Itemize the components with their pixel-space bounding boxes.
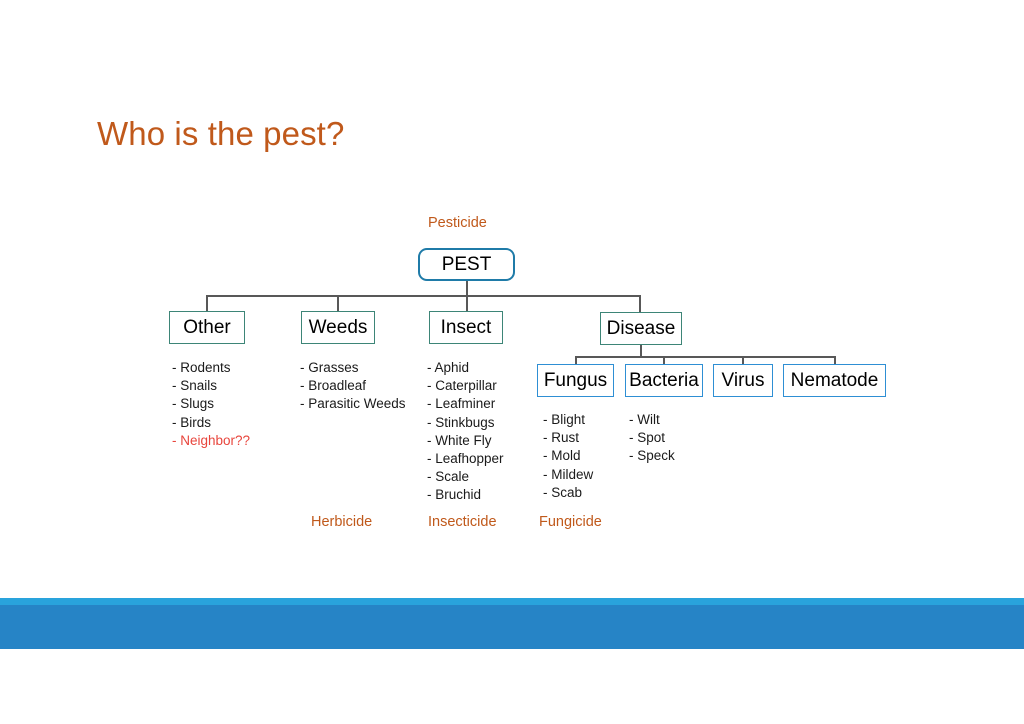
list-other: - Rodents - Snails - Slugs - Birds - Nei… (172, 359, 250, 450)
list-item: - Scale (427, 468, 504, 486)
caption-herbicide: Herbicide (311, 513, 372, 531)
connector-drop-insect (466, 295, 468, 312)
node-virus: Virus (713, 364, 773, 397)
connector-drop-other (206, 295, 208, 312)
list-item: - Spot (629, 429, 675, 447)
list-item: - Stinkbugs (427, 414, 504, 432)
node-fungus: Fungus (537, 364, 614, 397)
list-item: - Parasitic Weeds (300, 395, 406, 413)
list-item: - Aphid (427, 359, 504, 377)
list-item: - White Fly (427, 432, 504, 450)
list-weeds: - Grasses - Broadleaf - Parasitic Weeds (300, 359, 406, 414)
caption-fungicide: Fungicide (539, 513, 602, 531)
connector-level3-bus (575, 356, 835, 358)
list-item: - Mildew (543, 466, 593, 484)
slide-canvas: Who is the pest? Pesticide PEST Other We… (0, 0, 1024, 724)
node-insect: Insect (429, 311, 503, 344)
list-bacteria: - Wilt - Spot - Speck (629, 411, 675, 466)
node-disease: Disease (600, 312, 682, 345)
connector-level2-bus (206, 295, 641, 297)
list-item: - Grasses (300, 359, 406, 377)
node-bacteria: Bacteria (625, 364, 703, 397)
list-item: - Rodents (172, 359, 250, 377)
list-item: - Blight (543, 411, 593, 429)
list-item: - Snails (172, 377, 250, 395)
list-item: - Birds (172, 414, 250, 432)
footer-band (0, 605, 1024, 649)
list-item: - Broadleaf (300, 377, 406, 395)
list-item: - Caterpillar (427, 377, 504, 395)
node-nematode: Nematode (783, 364, 886, 397)
list-insect: - Aphid - Caterpillar - Leafminer - Stin… (427, 359, 504, 505)
connector-drop-disease (639, 295, 641, 312)
list-item: - Leafhopper (427, 450, 504, 468)
list-item: - Scab (543, 484, 593, 502)
list-fungus: - Blight - Rust - Mold - Mildew - Scab (543, 411, 593, 502)
list-item: - Slugs (172, 395, 250, 413)
node-weeds: Weeds (301, 311, 375, 344)
list-item: - Leafminer (427, 395, 504, 413)
list-item: - Speck (629, 447, 675, 465)
footer-accent-stripe (0, 598, 1024, 605)
list-item: - Mold (543, 447, 593, 465)
list-item: - Bruchid (427, 486, 504, 504)
caption-insecticide: Insecticide (428, 513, 497, 531)
caption-pesticide: Pesticide (428, 214, 487, 232)
page-title: Who is the pest? (97, 112, 344, 156)
list-item: - Rust (543, 429, 593, 447)
list-item-neighbor: - Neighbor?? (172, 432, 250, 450)
node-other: Other (169, 311, 245, 344)
list-item: - Wilt (629, 411, 675, 429)
connector-drop-weeds (337, 295, 339, 312)
node-pest: PEST (418, 248, 515, 281)
